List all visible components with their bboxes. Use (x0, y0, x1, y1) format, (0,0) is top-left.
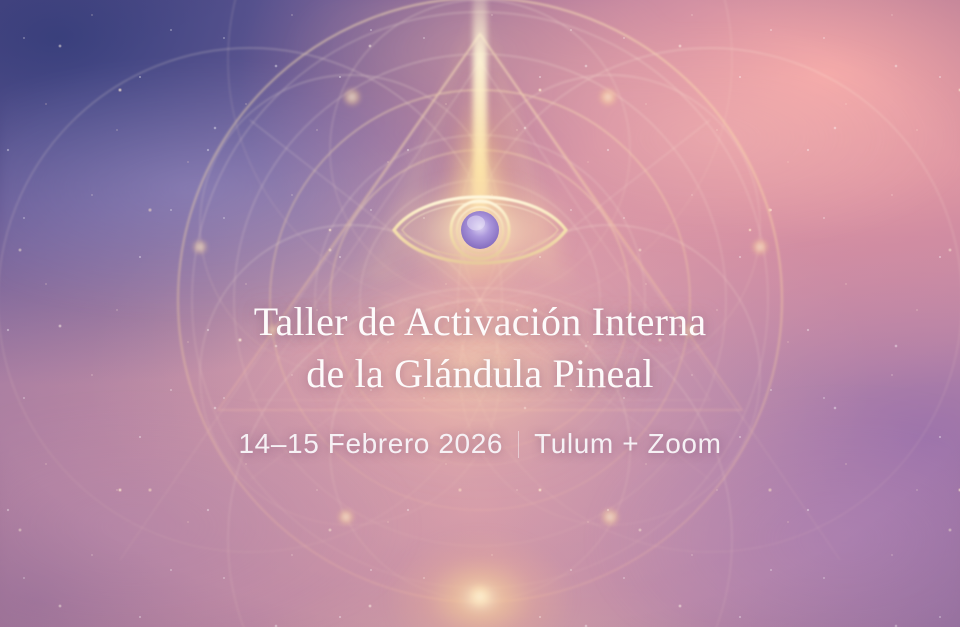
event-poster: Taller de Activación Interna de la Glánd… (0, 0, 960, 627)
bottom-star-flare-icon (310, 470, 650, 627)
title-line-2: de la Glándula Pineal (0, 348, 960, 400)
all-seeing-eye-icon (392, 184, 568, 276)
event-location: Tulum + Zoom (534, 430, 721, 458)
detail-separator (518, 431, 519, 458)
title-line-1: Taller de Activación Interna (0, 296, 960, 348)
poster-text-block: Taller de Activación Interna de la Glánd… (0, 296, 960, 458)
event-details: 14–15 Febrero 2026 Tulum + Zoom (0, 430, 960, 458)
page-title: Taller de Activación Interna de la Glánd… (0, 296, 960, 400)
bottom-light-rays (250, 430, 710, 627)
event-dates: 14–15 Febrero 2026 (239, 430, 504, 458)
